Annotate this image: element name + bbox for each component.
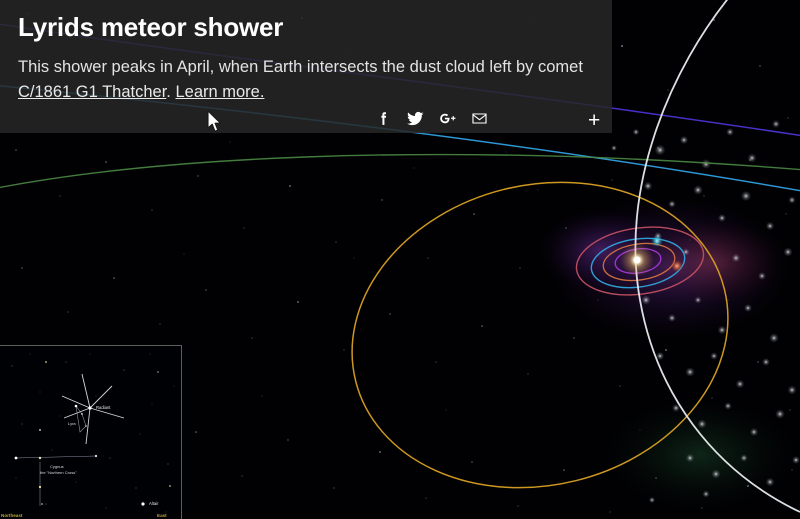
email-icon[interactable] — [471, 110, 488, 127]
mars — [671, 260, 683, 272]
expand-button[interactable]: + — [588, 112, 600, 129]
minimap-compass-left: Northeast — [1, 513, 23, 518]
minimap-label-lyra: Lyra — [68, 421, 76, 426]
minimap-label-cygnus-2: the "Northern Cross" — [40, 470, 77, 475]
share-row — [375, 110, 488, 127]
sun-core — [634, 257, 641, 264]
comet-link[interactable]: C/1861 G1 Thatcher — [18, 83, 166, 101]
sky-map-viewport[interactable]: Lyrids meteor shower This shower peaks i… — [0, 0, 800, 519]
earth — [651, 235, 663, 247]
info-panel: Lyrids meteor shower This shower peaks i… — [0, 0, 612, 133]
page-title: Lyrids meteor shower — [18, 14, 596, 41]
minimap-compass-right: East — [157, 513, 167, 518]
minimap-label-altair: Altair — [149, 501, 159, 506]
minimap-label-radiant: Radiant — [96, 405, 111, 410]
jupiter-orbit — [319, 143, 760, 519]
sky-minimap[interactable]: Radiant Lyra Cygnus the "Northern Cross" — [0, 345, 182, 519]
google-plus-icon[interactable] — [439, 110, 456, 127]
description-text-1: This shower peaks in April, when Earth i… — [18, 58, 583, 76]
twitter-icon[interactable] — [407, 110, 424, 127]
minimap-label-cygnus-1: Cygnus — [50, 464, 64, 469]
panel-description: This shower peaks in April, when Earth i… — [18, 55, 596, 105]
learn-more-link[interactable]: Learn more. — [175, 83, 264, 101]
facebook-icon[interactable] — [375, 110, 392, 127]
saturn-orbit — [0, 155, 800, 196]
